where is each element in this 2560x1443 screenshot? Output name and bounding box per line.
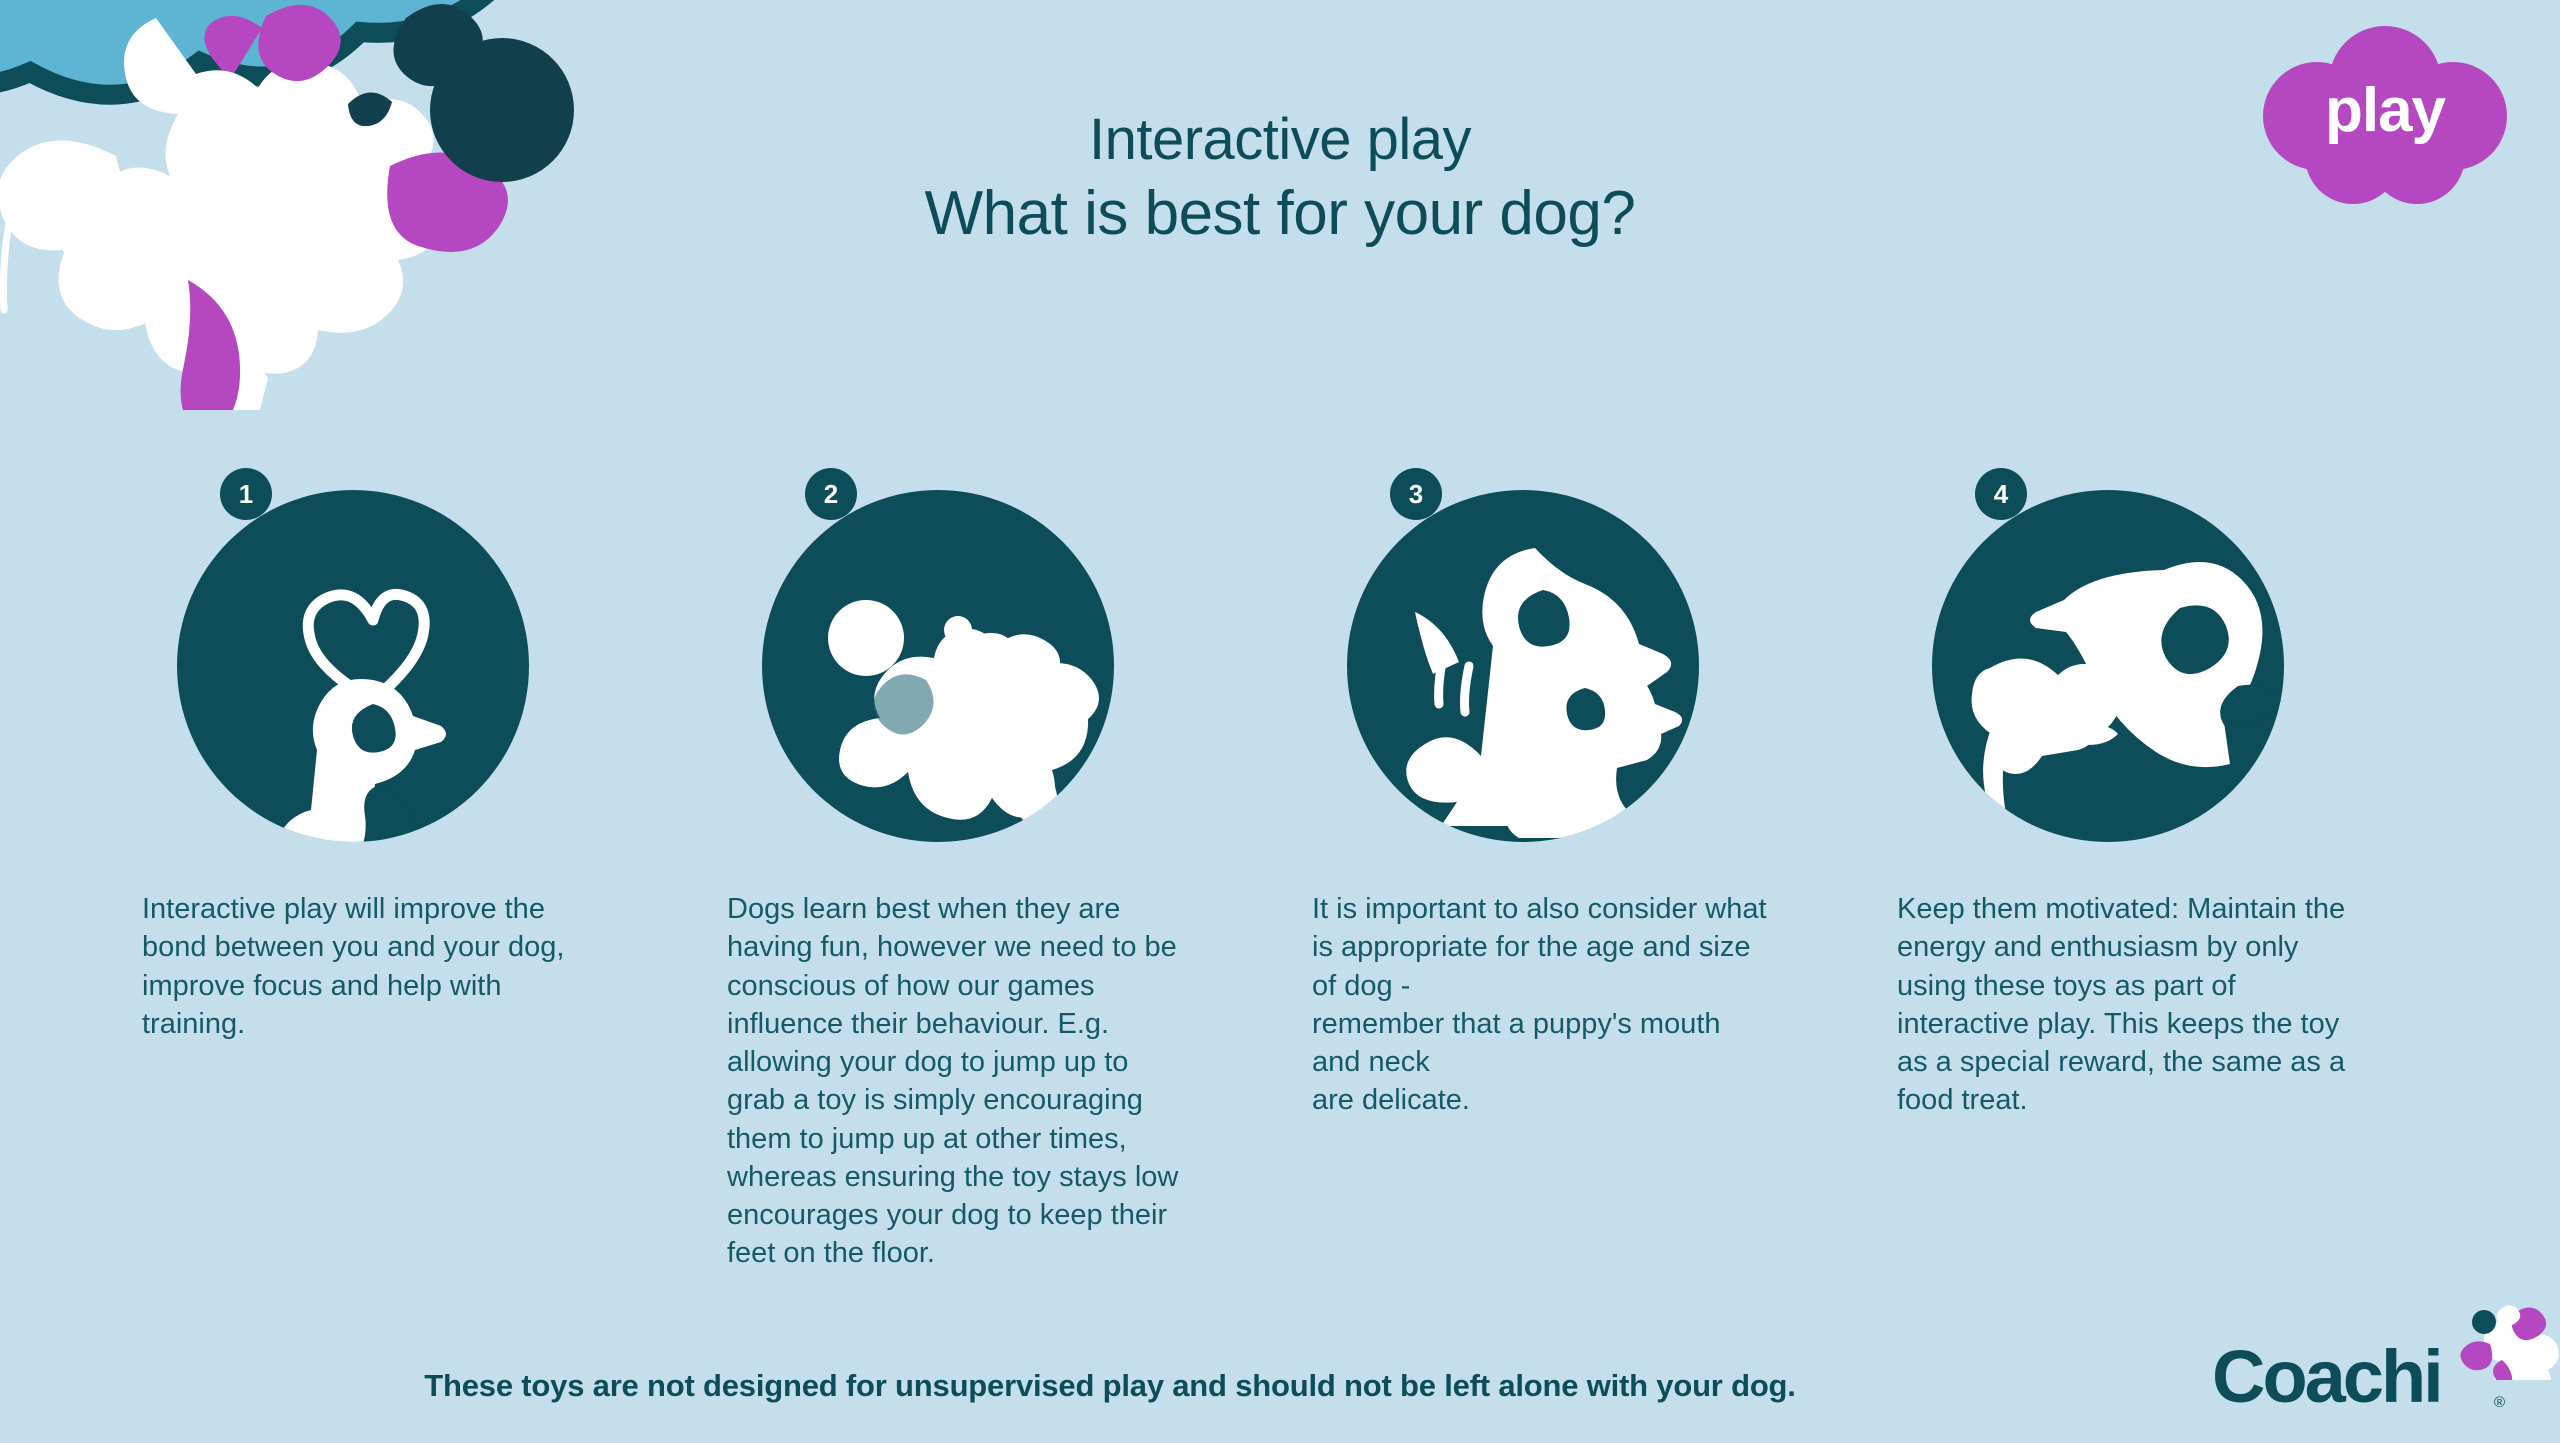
page-title-line2: What is best for your dog? (0, 176, 2560, 252)
tip-text-2: Dogs learn best when they are having fun… (727, 890, 1187, 1273)
tip-icon-circle-2 (762, 490, 1114, 842)
ball-icon (828, 600, 904, 676)
jumping-dog-chasing-ball-icon (762, 490, 1114, 842)
tip-icon-circle-4 (1932, 490, 2284, 842)
dog-and-puppy-sitting-icon (1347, 490, 1699, 842)
step-number-badge-4: 4 (1975, 468, 2027, 520)
tips-columns: 1 Interactive play will improve the bond… (120, 440, 2460, 1320)
tip-icon-circle-1 (177, 490, 529, 842)
leaping-dog-icon (2450, 1300, 2560, 1380)
tip-icon-circle-3 (1347, 490, 1699, 842)
page-title: Interactive play What is best for your d… (0, 105, 2560, 251)
hand-with-ball (1972, 658, 2120, 814)
sitting-dog-with-heart-icon (177, 490, 529, 842)
brand-logo: Coachi ® (2212, 1318, 2542, 1428)
dog-head-with-hand-and-ball-icon (1932, 490, 2284, 842)
tip-column-4: 4 Keep them motivated: Main (1875, 440, 2460, 1320)
brand-registered-mark: ® (2494, 1394, 2505, 1411)
tip-column-3: 3 It (1290, 440, 1875, 1320)
page-title-line1: Interactive play (0, 105, 2560, 176)
tip-text-1: Interactive play will improve the bond b… (142, 890, 602, 1043)
footer-warning-text: These toys are not designed for unsuperv… (0, 1368, 2560, 1404)
tip-column-1: 1 Interactive play will improve the bond… (120, 440, 705, 1320)
step-number-badge-3: 3 (1390, 468, 1442, 520)
step-number-badge-1: 1 (220, 468, 272, 520)
tip-column-2: 2 Dogs learn best when they are having f… (705, 440, 1290, 1320)
tip-text-3: It is important to also consider what is… (1312, 890, 1772, 1120)
brand-wordmark: Coachi (2212, 1334, 2441, 1419)
infographic-canvas: play Interactive play What is best for y… (0, 0, 2560, 1443)
step-number-badge-2: 2 (805, 468, 857, 520)
tip-text-4: Keep them motivated: Maintain the energy… (1897, 890, 2357, 1120)
